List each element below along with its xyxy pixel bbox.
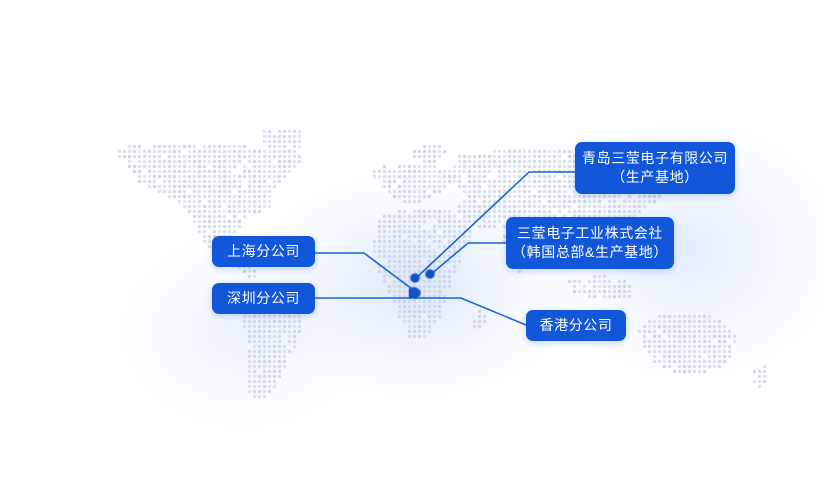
- label-korea-hq[interactable]: 三莹电子工业株式会社 （韩国总部&生产基地）: [506, 217, 674, 269]
- map-marker-qingdao[interactable]: [411, 274, 420, 283]
- world-map-background: [0, 0, 824, 480]
- map-marker-shenzhen[interactable]: [409, 288, 417, 299]
- label-shanghai-line1: 上海分公司: [227, 242, 300, 261]
- label-qingdao[interactable]: 青岛三莹电子有限公司 （生产基地）: [575, 142, 735, 194]
- label-korea-line1: 三莹电子工业株式会社: [517, 224, 663, 243]
- label-shenzhen-line1: 深圳分公司: [227, 289, 300, 308]
- label-korea-line2: （韩国总部&生产基地）: [512, 243, 668, 262]
- label-shanghai-branch[interactable]: 上海分公司: [212, 236, 315, 267]
- dotted-world-map-canvas: [0, 0, 824, 480]
- label-shenzhen-branch[interactable]: 深圳分公司: [212, 283, 315, 314]
- label-qingdao-line1: 青岛三莹电子有限公司: [582, 149, 728, 168]
- label-qingdao-line2: （生产基地）: [611, 168, 699, 187]
- label-hongkong-line1: 香港分公司: [540, 316, 613, 335]
- map-marker-korea[interactable]: [426, 270, 435, 279]
- world-map-infographic: 青岛三莹电子有限公司 （生产基地） 三莹电子工业株式会社 （韩国总部&生产基地）…: [0, 0, 824, 480]
- label-hongkong-branch[interactable]: 香港分公司: [526, 310, 626, 341]
